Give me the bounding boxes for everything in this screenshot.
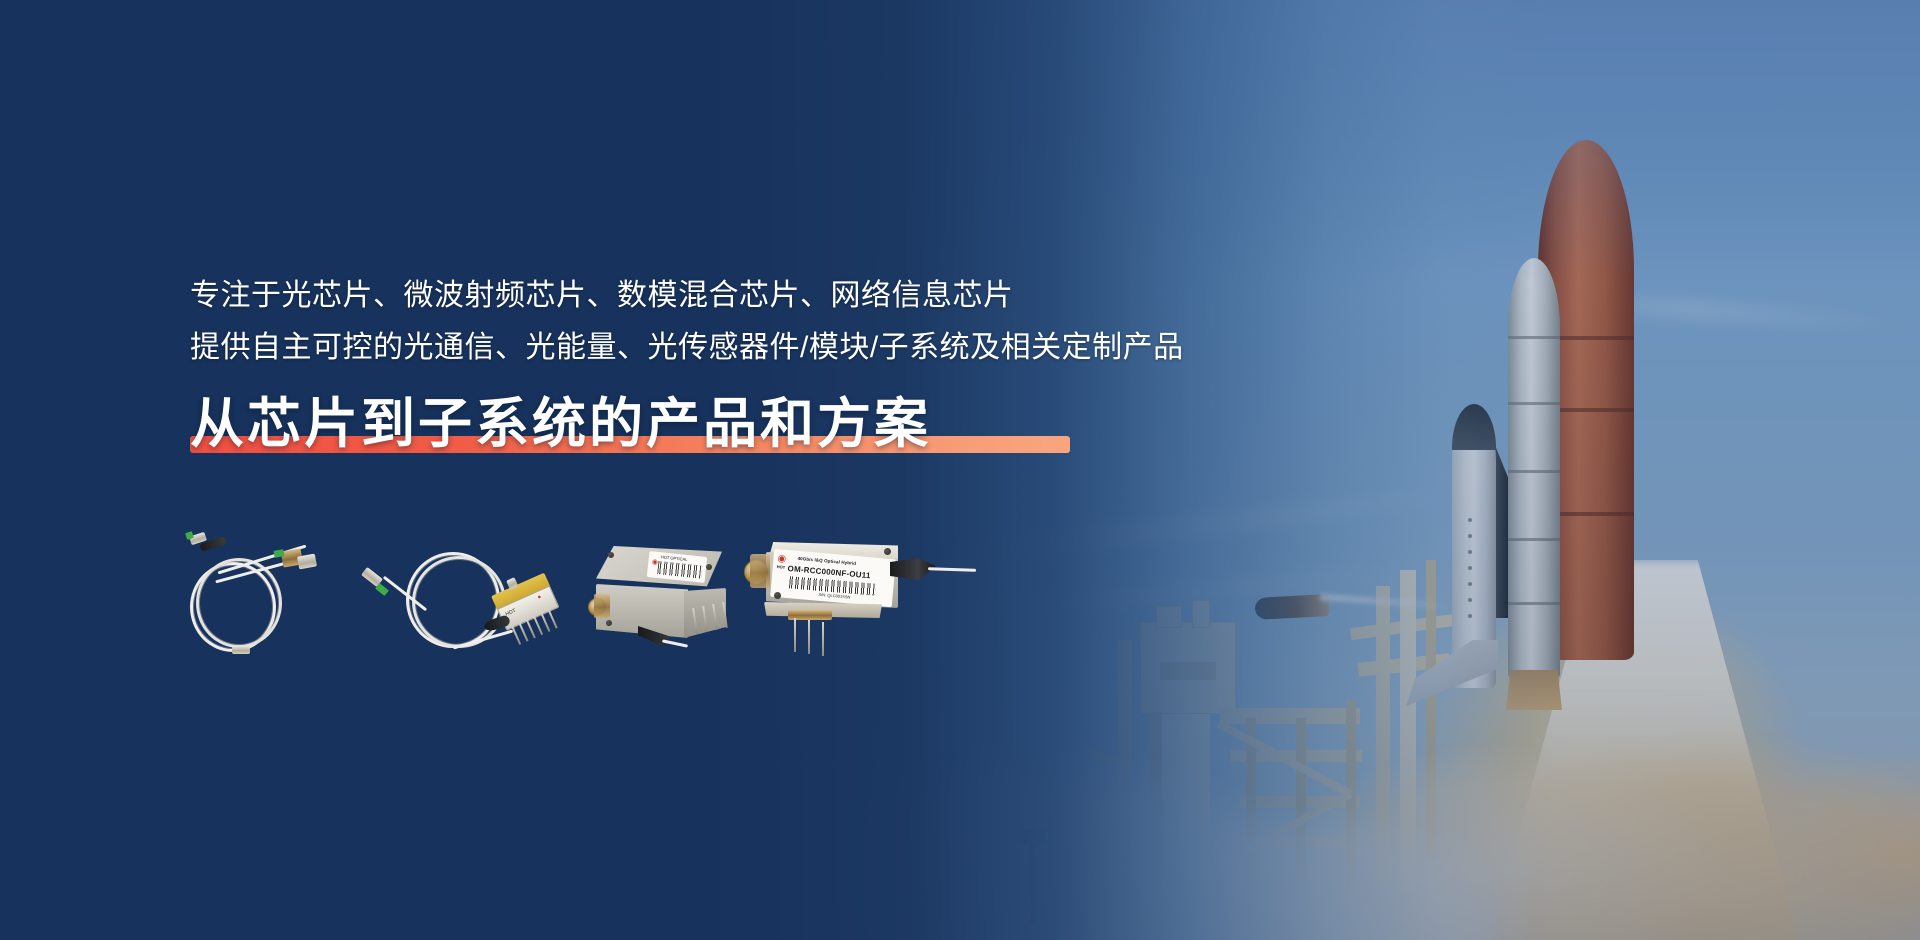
product-showcase-row: ● HOT HOT OPTICAL ◉	[186, 528, 1066, 668]
subheadline-line-1: 专注于光芯片、微波射频芯片、数模混合芯片、网络信息芯片	[190, 270, 1370, 322]
hero-banner: 专注于光芯片、微波射频芯片、数模混合芯片、网络信息芯片 提供自主可控的光通信、光…	[0, 0, 1920, 940]
product-optical-hybrid: ◉ HOT 40Gb/s I&Q Optical Hybrid OM-RCC00…	[738, 536, 968, 661]
hybrid-label-title: 40Gb/s I&Q Optical Hybrid	[797, 556, 856, 566]
hero-copy: 专注于光芯片、微波射频芯片、数模混合芯片、网络信息芯片 提供自主可控的光通信、光…	[190, 270, 1370, 456]
headline-block: 从芯片到子系统的产品和方案	[190, 392, 931, 456]
subheadline-line-2: 提供自主可控的光通信、光能量、光传感器件/模块/子系统及相关定制产品	[190, 322, 1370, 374]
product-butterfly-laser: ● HOT	[356, 534, 546, 664]
brand-gradient-overlay	[0, 0, 1920, 940]
product-rf-module: HOT OPTICAL ◉	[586, 546, 736, 661]
page-title: 从芯片到子系统的产品和方案	[190, 392, 931, 456]
product-fiber-patch-cord	[186, 528, 336, 658]
